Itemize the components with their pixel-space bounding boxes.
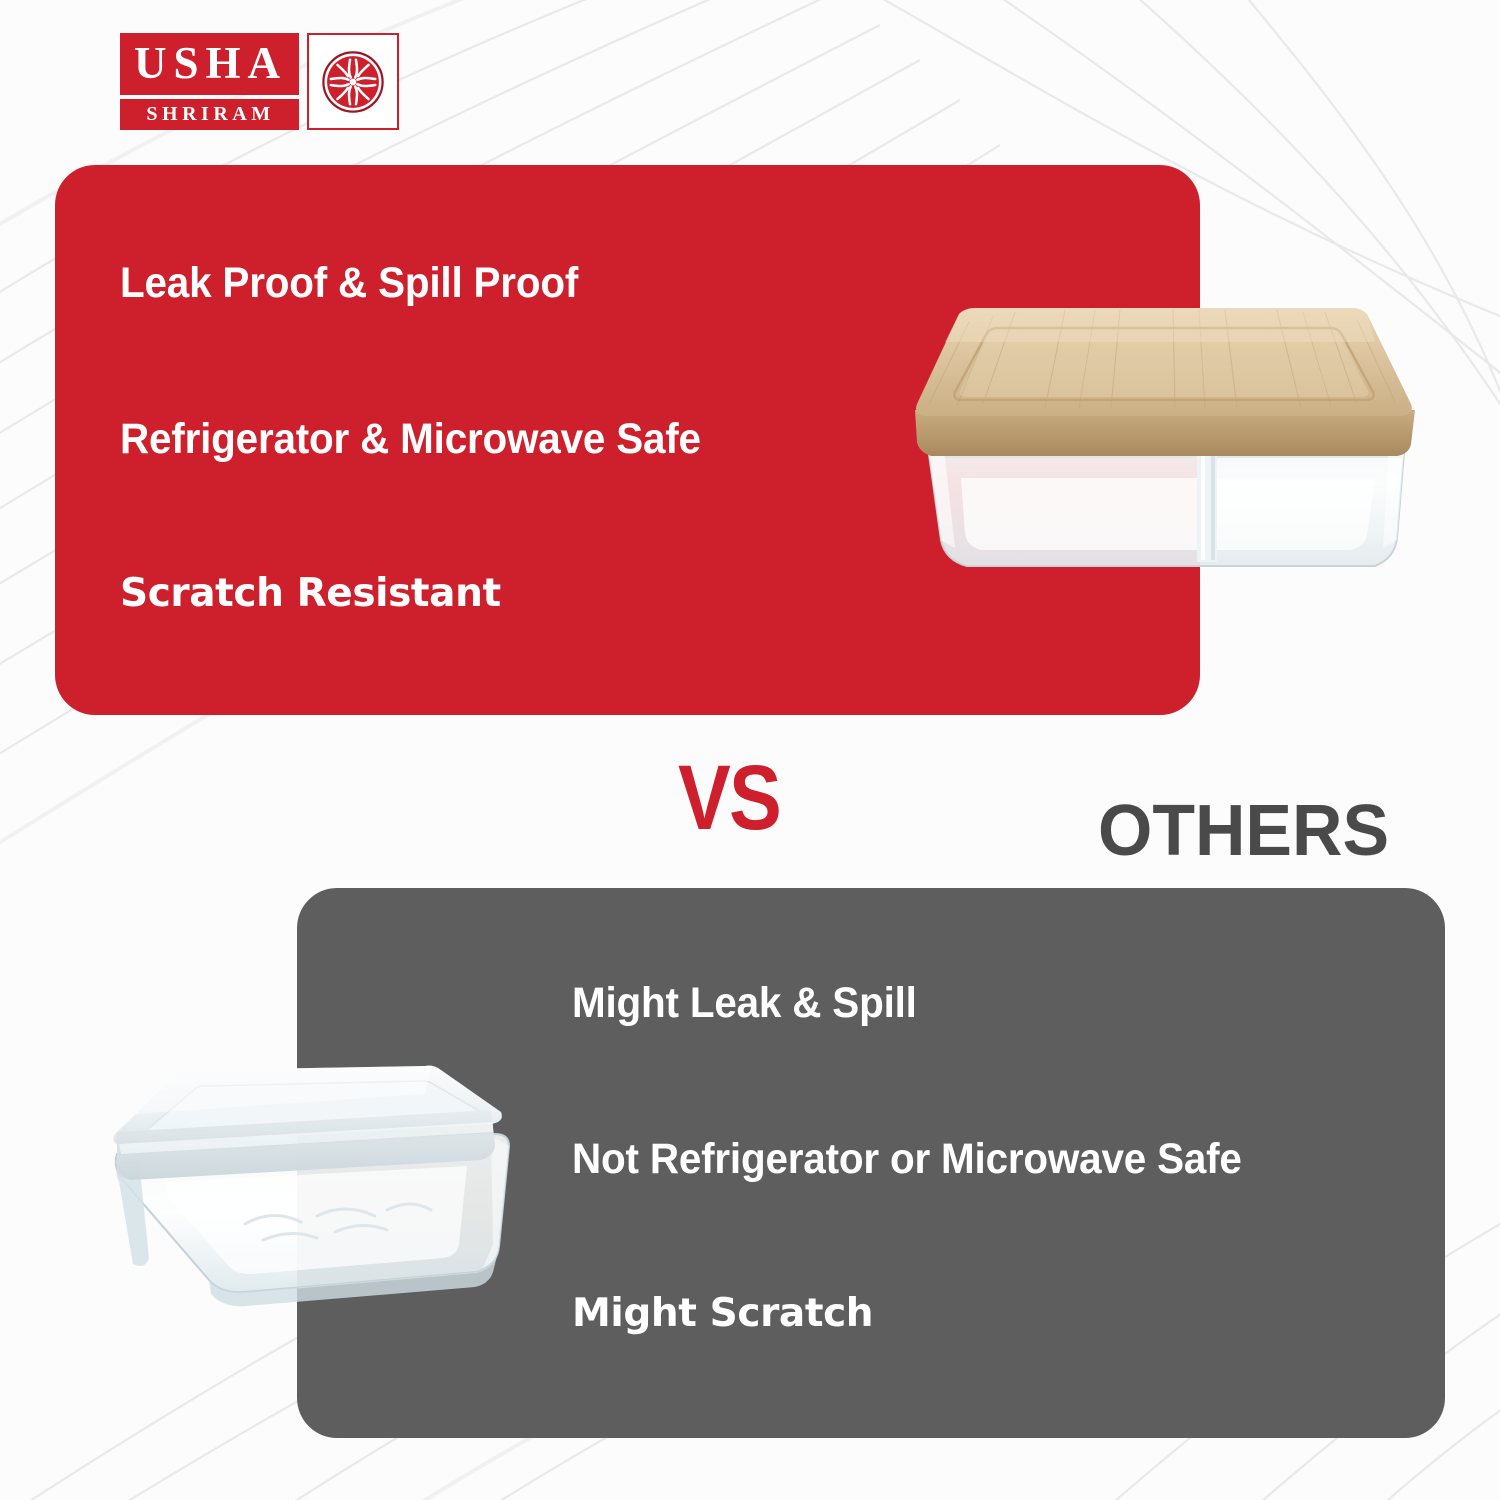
others-feature-3: Might Scratch: [572, 1294, 1422, 1333]
versus-label: VS: [678, 752, 780, 844]
logo-wordmark: USHA SHRIRAM: [120, 33, 299, 130]
bamboo-lid-glass-container-icon: [905, 292, 1425, 602]
usha-feature-list: Leak Proof & Spill Proof Refrigerator & …: [120, 262, 880, 613]
logo-primary-text: USHA: [120, 33, 299, 95]
logo-secondary-text: SHRIRAM: [120, 99, 299, 130]
usha-wheel-emblem-icon: [307, 33, 399, 130]
usha-feature-2: Refrigerator & Microwave Safe: [120, 418, 834, 461]
others-feature-2: Not Refrigerator or Microwave Safe: [572, 1138, 1371, 1181]
brand-logo: USHA SHRIRAM: [120, 33, 399, 130]
others-feature-1: Might Leak & Spill: [572, 982, 1371, 1025]
usha-feature-1: Leak Proof & Spill Proof: [120, 262, 834, 305]
others-heading: OTHERS: [1098, 795, 1389, 867]
usha-feature-3: Scratch Resistant: [120, 574, 880, 613]
others-feature-list: Might Leak & Spill Not Refrigerator or M…: [572, 982, 1422, 1333]
plastic-lid-glass-container-icon: [95, 1058, 565, 1323]
